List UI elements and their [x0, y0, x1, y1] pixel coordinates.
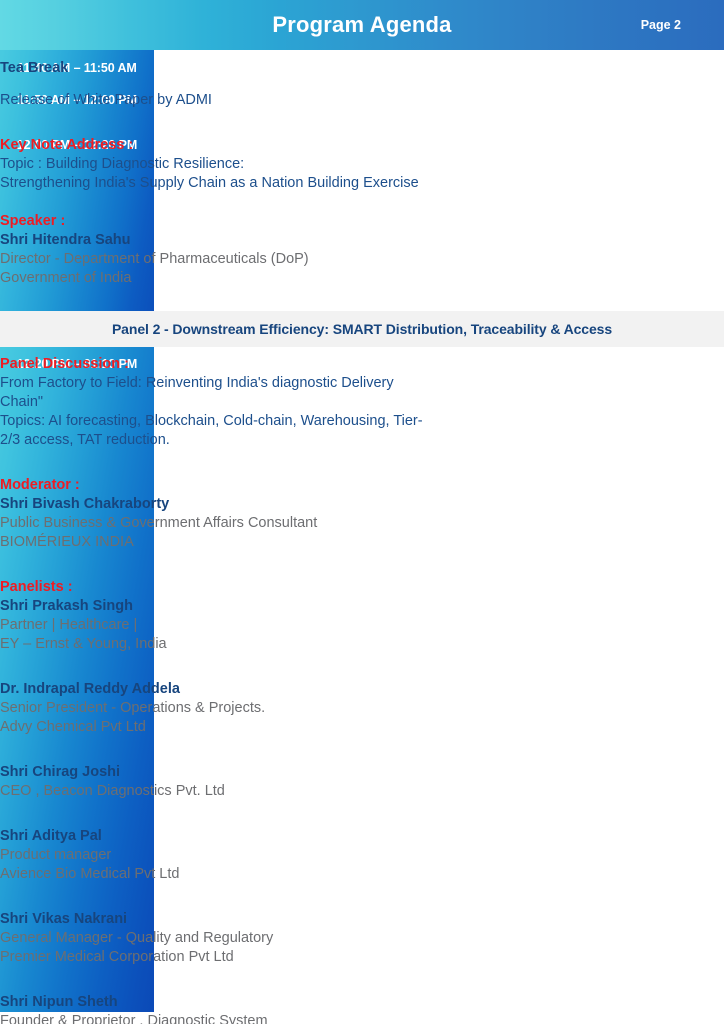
speaker-label: Speaker : — [0, 212, 528, 231]
panelists-label: Panelists : — [0, 578, 528, 597]
list-item: Shri Chirag Joshi CEO , Beacon Diagnosti… — [0, 763, 528, 801]
spacer — [0, 552, 528, 578]
moderator-role: Public Business & Government Affairs Con… — [0, 514, 528, 533]
panelist-role: Product manager — [0, 846, 528, 865]
panelist-role: Partner | Healthcare | — [0, 616, 528, 635]
spacer — [0, 450, 528, 476]
tea-break-title: Tea Break — [0, 59, 528, 78]
spacer — [0, 967, 528, 993]
list-item: Dr. Indrapal Reddy Addela Senior Preside… — [0, 680, 528, 737]
panelist-role: Founder & Proprietor , Diagnostic System — [0, 1012, 528, 1024]
moderator-name: Shri Bivash Chakraborty — [0, 495, 528, 514]
panel-discussion-label: Panel Discussion : — [0, 355, 528, 374]
panelist-org: Advy Chemical Pvt Ltd — [0, 718, 528, 737]
panelist-name: Shri Aditya Pal — [0, 827, 528, 846]
panel-discussion-line1: From Factory to Field: Reinventing India… — [0, 374, 528, 393]
speaker-name: Shri Hitendra Sahu — [0, 231, 528, 250]
moderator-label: Moderator : — [0, 476, 528, 495]
white-paper-title: Release of White Paper by ADMI — [0, 91, 528, 110]
row-tea-break: Tea Break — [0, 59, 528, 78]
page-title: Program Agenda — [272, 12, 451, 38]
row-keynote: Key Note Address : Topic : Building Diag… — [0, 136, 528, 288]
spacer — [0, 884, 528, 910]
list-item: Shri Aditya Pal Product manager Avience … — [0, 827, 528, 884]
panelist-name: Shri Prakash Singh — [0, 597, 528, 616]
panelist-name: Shri Vikas Nakrani — [0, 910, 528, 929]
keynote-topic-line1: Topic : Building Diagnostic Resilience: — [0, 155, 528, 174]
panelist-name: Shri Chirag Joshi — [0, 763, 528, 782]
panel-topics-line1: Topics: AI forecasting, Blockchain, Cold… — [0, 412, 528, 431]
spacer — [0, 737, 528, 763]
page-header: Program Agenda Page 2 — [0, 0, 724, 50]
panel-section-band: Panel 2 - Downstream Efficiency: SMART D… — [0, 311, 724, 347]
panel-discussion-line2: Chain" — [0, 393, 528, 412]
panel-topics-line2: 2/3 access, TAT reduction. — [0, 431, 528, 450]
list-item: Shri Prakash Singh Partner | Healthcare … — [0, 597, 528, 654]
panelist-name: Shri Nipun Sheth — [0, 993, 528, 1012]
list-item: Shri Vikas Nakrani General Manager - Qua… — [0, 910, 528, 967]
panelist-role: Senior President - Operations & Projects… — [0, 699, 528, 718]
panelist-name: Dr. Indrapal Reddy Addela — [0, 680, 528, 699]
panel-section-title: Panel 2 - Downstream Efficiency: SMART D… — [112, 321, 612, 337]
panelist-org: Avience Bio Medical Pvt Ltd — [0, 865, 528, 884]
row-white-paper: Release of White Paper by ADMI — [0, 91, 528, 110]
panelist-org: Premier Medical Corporation Pvt Ltd — [0, 948, 528, 967]
speaker-org: Government of India — [0, 269, 528, 288]
spacer — [0, 801, 528, 827]
panelist-role: General Manager - Quality and Regulatory — [0, 929, 528, 948]
spacer — [0, 654, 528, 680]
keynote-label: Key Note Address : — [0, 136, 528, 155]
row-panel-discussion: Panel Discussion : From Factory to Field… — [0, 355, 528, 1024]
agenda-page: Program Agenda Page 2 11:40 AM – 11:50 A… — [0, 0, 724, 1024]
panelist-org: EY – Ernst & Young, India — [0, 635, 528, 654]
moderator-org: BIOMÉRIEUX INDIA — [0, 533, 528, 552]
spacer — [0, 193, 528, 212]
keynote-topic-line2: Strengthening India's Supply Chain as a … — [0, 174, 528, 193]
page-number: Page 2 — [641, 18, 681, 32]
panelist-role: CEO , Beacon Diagnostics Pvt. Ltd — [0, 782, 528, 801]
speaker-role: Director - Department of Pharmaceuticals… — [0, 250, 528, 269]
list-item: Shri Nipun Sheth Founder & Proprietor , … — [0, 993, 528, 1024]
